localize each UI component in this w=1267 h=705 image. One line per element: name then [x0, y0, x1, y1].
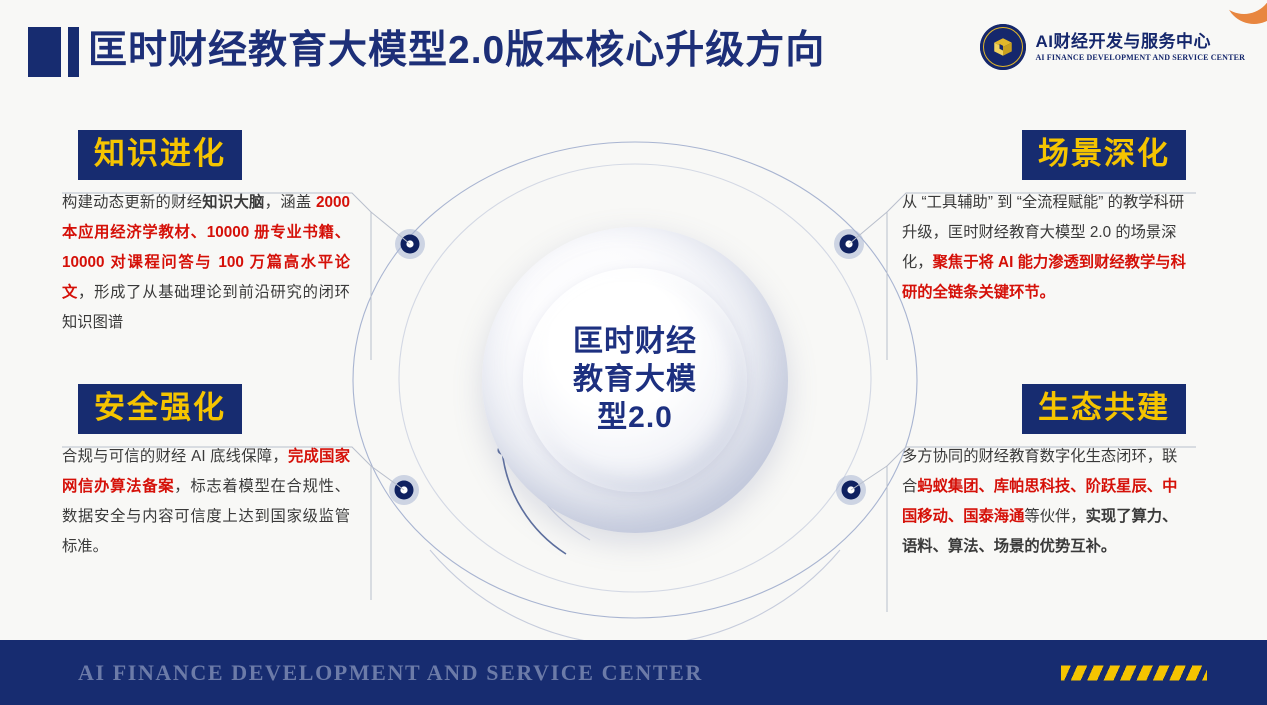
- diagonal-stripes-icon: [1061, 665, 1207, 680]
- card-tag-scenario: 场景深化: [1022, 130, 1186, 180]
- slide-root: 匡时财经教育大模型2.0版本核心升级方向 AI财经开发与服务中心 AI FINA…: [0, 0, 1267, 705]
- logo-name-en: AI FINANCE DEVELOPMENT AND SERVICE CENTE…: [1035, 52, 1245, 63]
- card-body-ecosystem: 多方协同的财经教育数字化生态闭环，联合蚂蚁集团、库帕思科技、阶跃星辰、中国移动、…: [890, 434, 1190, 572]
- card-tag-security: 安全强化: [78, 384, 242, 434]
- center-label-line-1: 匡时财经: [573, 323, 697, 361]
- card-body-security: 合规与可信的财经 AI 底线保障，完成国家网信办算法备案，标志着模型在合规性、数…: [62, 434, 362, 572]
- page-title: 匡时财经教育大模型2.0版本核心升级方向: [88, 21, 825, 81]
- slide-header: 匡时财经教育大模型2.0版本核心升级方向 AI财经开发与服务中心 AI FINA…: [0, 0, 1267, 104]
- center-sphere-inner: 匡时财经 教育大模 型2.0: [523, 268, 747, 492]
- center-sphere-label: 匡时财经 教育大模 型2.0: [573, 323, 697, 437]
- center-label-line-3: 型2.0: [573, 399, 697, 437]
- slide-footer: AI FINANCE DEVELOPMENT AND SERVICE CENTE…: [0, 640, 1267, 705]
- card-tag-ecosystem: 生态共建: [1022, 384, 1186, 434]
- header-accent-bar-thin: [68, 27, 79, 77]
- card-body-scenario: 从 “工具辅助” 到 “全流程赋能” 的教学科研升级，匡时财经教育大模型 2.0…: [890, 180, 1190, 318]
- center-sphere-outer: 匡时财经 教育大模 型2.0: [482, 227, 788, 533]
- card-scenario-deepening: 场景深化 从 “工具辅助” 到 “全流程赋能” 的教学科研升级，匡时财经教育大模…: [890, 130, 1190, 318]
- card-tag-knowledge: 知识进化: [78, 130, 242, 180]
- center-label-line-2: 教育大模: [573, 361, 697, 399]
- logo-name-cn: AI财经开发与服务中心: [1035, 32, 1245, 52]
- cube-glyph-icon: [993, 37, 1014, 58]
- footer-brand-text: AI FINANCE DEVELOPMENT AND SERVICE CENTE…: [78, 660, 703, 686]
- card-knowledge-evolution: 知识进化 构建动态更新的财经知识大脑，涵盖 2000 本应用经济学教材、1000…: [62, 130, 362, 348]
- seal-emblem-icon: [980, 24, 1026, 70]
- card-body-knowledge: 构建动态更新的财经知识大脑，涵盖 2000 本应用经济学教材、10000 册专业…: [62, 180, 362, 348]
- central-diagram: 匡时财经 教育大模 型2.0: [340, 120, 930, 640]
- brand-logo: AI财经开发与服务中心 AI FINANCE DEVELOPMENT AND S…: [980, 24, 1245, 70]
- card-ecosystem-cobuild: 生态共建 多方协同的财经教育数字化生态闭环，联合蚂蚁集团、库帕思科技、阶跃星辰、…: [890, 384, 1190, 572]
- card-security-hardening: 安全强化 合规与可信的财经 AI 底线保障，完成国家网信办算法备案，标志着模型在…: [62, 384, 362, 572]
- header-accent-bar-wide: [28, 27, 61, 77]
